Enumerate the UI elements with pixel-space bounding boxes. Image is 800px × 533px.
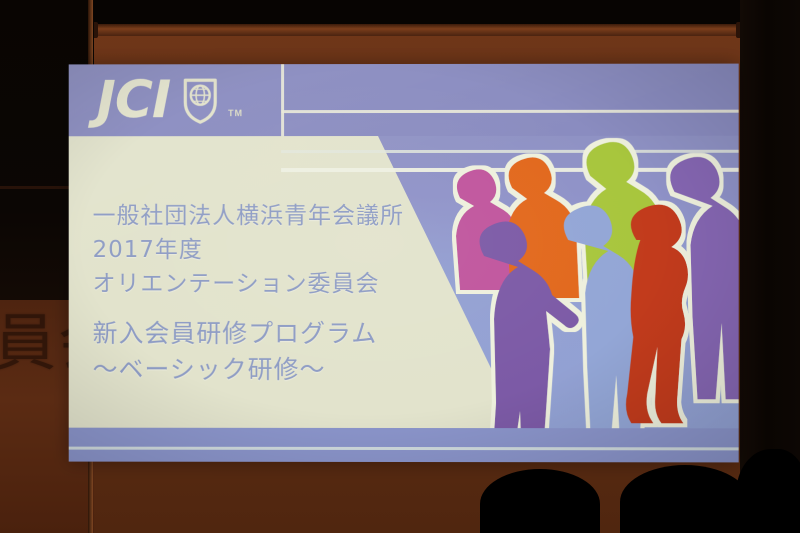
- audience-head-silhouette: [480, 469, 600, 533]
- jci-shield-globe-icon: [180, 76, 220, 124]
- program-line-1: 新入会員研修プログラム: [93, 316, 378, 352]
- screen-roller-bar: [88, 24, 746, 36]
- org-line-3: オリエンテーション委員会: [93, 267, 404, 301]
- people-silhouette-illustration: [438, 136, 739, 463]
- header-divider-vertical: [281, 64, 284, 136]
- audience-head-silhouette: [620, 465, 750, 533]
- program-line-2: ～ベーシック研修～: [93, 352, 378, 388]
- organization-text-block: 一般社団法人横浜青年会議所 2017年度 オリエンテーション委員会: [93, 199, 404, 301]
- footer-stripe-lower: [69, 450, 739, 463]
- slide-header-band: JCI TM: [69, 64, 739, 137]
- audience-head-silhouette: [736, 449, 800, 533]
- presentation-slide: JCI TM 一般社団法人: [69, 64, 739, 463]
- org-line-2: 2017年度: [93, 233, 404, 267]
- org-line-1: 一般社団法人横浜青年会議所: [93, 199, 404, 233]
- program-title-block: 新入会員研修プログラム ～ベーシック研修～: [93, 316, 378, 388]
- photo-scene: 員会: [0, 0, 800, 533]
- figure-red: [626, 205, 688, 424]
- trademark-symbol: TM: [228, 108, 243, 118]
- jci-wordmark: JCI: [97, 74, 171, 126]
- header-divider-horizontal: [281, 110, 739, 113]
- jci-logo: JCI TM: [97, 74, 243, 126]
